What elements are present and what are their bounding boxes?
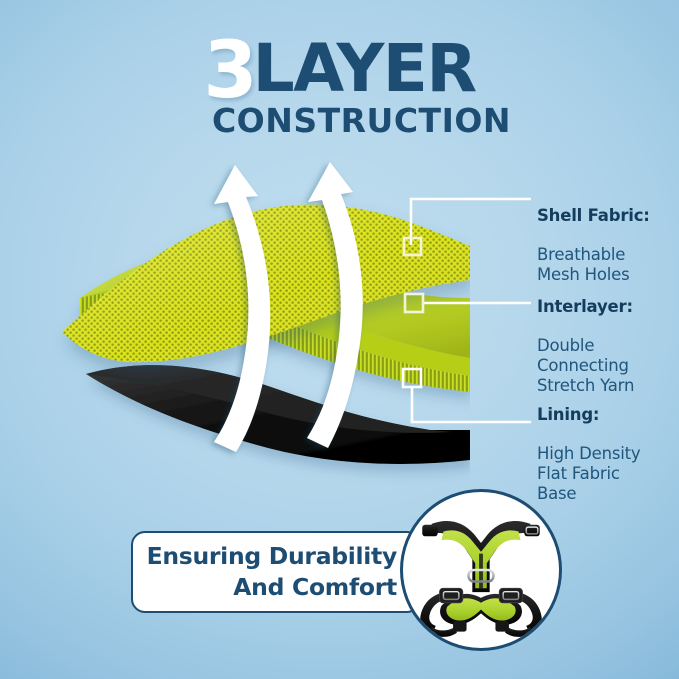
callout-heading: Shell Fabric:	[537, 206, 650, 226]
infographic-canvas: 3LAYER CONSTRUCTION	[0, 0, 679, 679]
dog-harness-icon	[403, 492, 559, 648]
harness-right-tail-slider	[495, 621, 508, 632]
product-image-circle	[400, 489, 562, 651]
layer-stack-illustration	[0, 130, 470, 500]
harness-right-tail	[505, 627, 532, 637]
tagline-text: Ensuring Durability And Comfort	[147, 541, 419, 602]
harness-left-shoulder-tip	[422, 525, 437, 537]
harness-left-buckle	[440, 588, 463, 602]
harness-left-tail-slider	[453, 621, 466, 632]
title-line-1: 3LAYER	[0, 32, 679, 110]
title-word-layer: LAYER	[253, 30, 476, 107]
callout-heading: Interlayer:	[537, 297, 634, 317]
tagline-banner: Ensuring Durability And Comfort	[131, 531, 421, 613]
harness-left-tail	[430, 627, 457, 637]
page-title: 3LAYER CONSTRUCTION	[0, 32, 679, 137]
callout-heading: Lining:	[537, 405, 641, 425]
harness-right-buckle	[499, 588, 522, 602]
